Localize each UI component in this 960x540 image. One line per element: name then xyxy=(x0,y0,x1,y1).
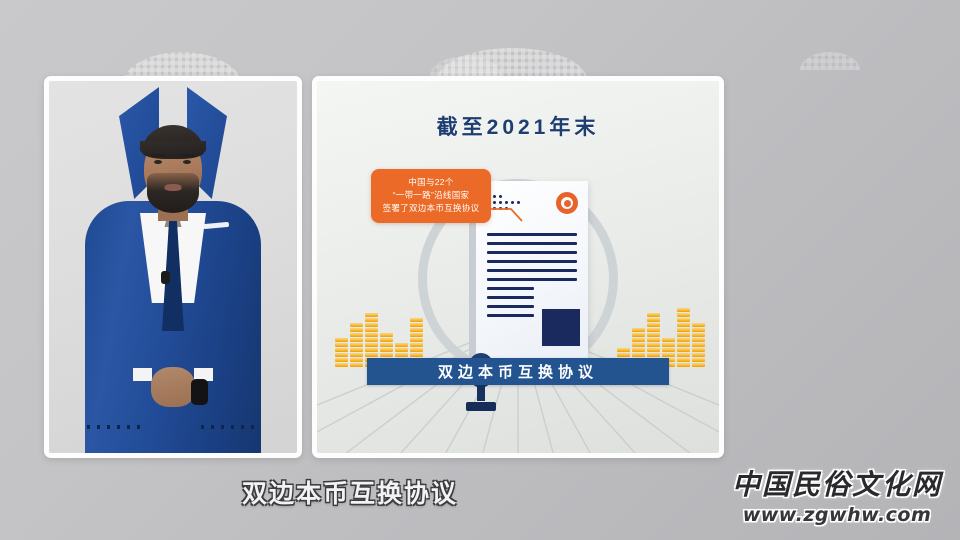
watermark-site-name: 中国民俗文化网 xyxy=(732,463,942,503)
coin xyxy=(335,363,348,367)
coin xyxy=(677,358,690,362)
stamp-base xyxy=(466,402,496,411)
page-title: 截至2021年末 xyxy=(317,111,719,141)
coin xyxy=(350,343,363,347)
coin xyxy=(647,318,660,322)
coin xyxy=(365,313,378,317)
coin xyxy=(365,348,378,352)
coin xyxy=(380,348,393,352)
eyebrow-left xyxy=(151,154,165,157)
coin xyxy=(365,333,378,337)
sleeve-buttons-left xyxy=(87,425,145,429)
document-text-line xyxy=(487,296,534,299)
coin xyxy=(365,323,378,327)
callout-line-1: 中国与22个 xyxy=(377,176,485,189)
coin xyxy=(677,363,690,367)
coin xyxy=(632,343,645,347)
coin xyxy=(677,308,690,312)
coin xyxy=(350,363,363,367)
document-text-line xyxy=(487,269,577,272)
coin xyxy=(647,338,660,342)
document-dot xyxy=(517,201,520,204)
eyebrow-right xyxy=(181,154,195,157)
coin xyxy=(662,353,675,357)
coin xyxy=(410,323,423,327)
eye-right xyxy=(183,160,191,164)
presenter-figure xyxy=(49,81,297,453)
coin xyxy=(335,343,348,347)
coin xyxy=(647,333,660,337)
coin xyxy=(335,348,348,352)
document-dot xyxy=(493,195,496,198)
watermark: 中国民俗文化网 www.zgwhw.com xyxy=(732,463,942,526)
coin xyxy=(350,338,363,342)
coin xyxy=(350,328,363,332)
document-dot xyxy=(493,201,496,204)
coin xyxy=(632,333,645,337)
document-text-line xyxy=(487,305,534,308)
coin xyxy=(677,328,690,332)
document-text-line xyxy=(487,233,577,236)
coin xyxy=(677,313,690,317)
presenter-video-panel xyxy=(44,76,302,458)
document-text-line xyxy=(487,260,577,263)
callout-box: 中国与22个 “一带一路”沿线国家 签署了双边本币互换协议 xyxy=(371,169,491,223)
coin xyxy=(350,348,363,352)
coin xyxy=(350,353,363,357)
coin xyxy=(350,333,363,337)
stage: 截至2021年末 双边本币互换协议 中国与22个 “一带一路”沿线国家 签署了双… xyxy=(44,76,724,458)
coin xyxy=(662,338,675,342)
agreement-banner-label: 双边本币互换协议 xyxy=(438,361,598,382)
agreement-banner: 双边本币互换协议 xyxy=(367,358,669,385)
coin xyxy=(410,333,423,337)
coin xyxy=(380,343,393,347)
coin xyxy=(410,343,423,347)
background-arch xyxy=(430,56,502,76)
coin xyxy=(365,353,378,357)
coin xyxy=(395,353,408,357)
lapel-microphone-icon xyxy=(161,271,170,284)
callout-pointer-icon xyxy=(489,207,523,225)
coin-stack xyxy=(350,323,363,367)
coin xyxy=(677,333,690,337)
coin-stack xyxy=(335,338,348,367)
coin xyxy=(617,353,630,357)
coin xyxy=(410,328,423,332)
coin-stack xyxy=(677,308,690,367)
coin xyxy=(335,358,348,362)
coin xyxy=(692,343,705,347)
coin xyxy=(677,348,690,352)
signature-block xyxy=(542,309,580,346)
beard xyxy=(147,173,199,213)
coin xyxy=(662,343,675,347)
coin xyxy=(395,343,408,347)
coin xyxy=(677,338,690,342)
coin xyxy=(647,343,660,347)
document-text-line xyxy=(487,278,577,281)
coin xyxy=(647,353,660,357)
coin xyxy=(662,348,675,352)
document-dot xyxy=(511,201,514,204)
eye-left xyxy=(154,160,162,164)
target-icon xyxy=(556,192,578,214)
coin xyxy=(632,353,645,357)
coin xyxy=(692,363,705,367)
coin xyxy=(410,348,423,352)
coin xyxy=(365,318,378,322)
coin xyxy=(692,358,705,362)
clasped-hands xyxy=(151,367,195,407)
coin xyxy=(647,328,660,332)
coin xyxy=(410,338,423,342)
background-arch xyxy=(800,52,860,70)
coin xyxy=(692,328,705,332)
coin xyxy=(632,338,645,342)
coin xyxy=(692,333,705,337)
coin xyxy=(692,348,705,352)
wristwatch xyxy=(191,379,208,405)
coin xyxy=(647,348,660,352)
coin xyxy=(380,338,393,342)
coin xyxy=(335,338,348,342)
watermark-url: www.zgwhw.com xyxy=(732,504,942,526)
coin xyxy=(632,348,645,352)
coin xyxy=(677,323,690,327)
mouth xyxy=(165,184,182,191)
document-text-line xyxy=(487,314,534,317)
coin xyxy=(692,353,705,357)
callout-line-2: “一带一路”沿线国家 xyxy=(377,189,485,202)
coin xyxy=(365,343,378,347)
coin xyxy=(632,328,645,332)
coin xyxy=(350,358,363,362)
coin xyxy=(350,323,363,327)
document-text-line xyxy=(487,287,534,290)
coin xyxy=(647,313,660,317)
document-text-line xyxy=(487,242,577,245)
coin xyxy=(617,348,630,352)
coin xyxy=(677,318,690,322)
coin xyxy=(692,338,705,342)
coin xyxy=(380,353,393,357)
document-dot xyxy=(499,195,502,198)
infographic-panel: 截至2021年末 双边本币互换协议 中国与22个 “一带一路”沿线国家 签署了双… xyxy=(312,76,724,458)
coin xyxy=(692,323,705,327)
document-text-line xyxy=(487,251,577,254)
coin xyxy=(410,318,423,322)
coin xyxy=(647,323,660,327)
coin xyxy=(365,338,378,342)
coin xyxy=(395,348,408,352)
coin xyxy=(335,353,348,357)
coin xyxy=(677,353,690,357)
document-dot xyxy=(505,201,508,204)
stamp-stem xyxy=(477,383,485,401)
sleeve-buttons-right xyxy=(201,425,259,429)
subtitle-caption: 双边本币互换协议 xyxy=(0,474,700,510)
coin xyxy=(365,328,378,332)
coin xyxy=(380,333,393,337)
coin xyxy=(677,343,690,347)
shirt-cuff-left xyxy=(133,368,152,381)
coin xyxy=(410,353,423,357)
document-dot xyxy=(499,201,502,204)
callout-line-3: 签署了双边本币互换协议 xyxy=(377,202,485,215)
coin-stack xyxy=(692,323,705,367)
